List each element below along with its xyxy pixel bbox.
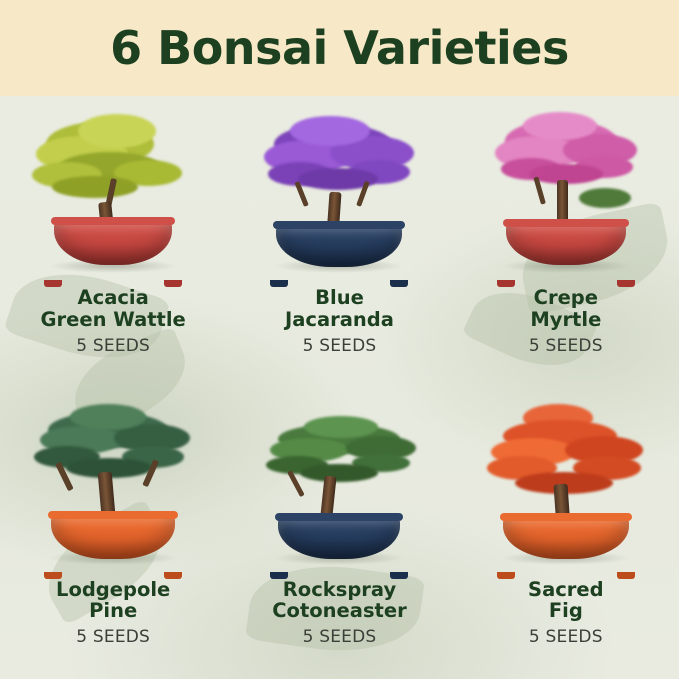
product-caption: Rockspray Cotoneaster 5 SEEDS <box>234 579 444 648</box>
product-caption: Sacred Fig 5 SEEDS <box>461 579 671 648</box>
page-title: 6 Bonsai Varieties <box>110 25 569 71</box>
product-name: Rockspray Cotoneaster <box>234 579 444 623</box>
product-caption: Blue Jacaranda 5 SEEDS <box>234 287 444 356</box>
product-grid: Acacia Green Wattle 5 SEEDS <box>0 96 679 679</box>
pot-acacia <box>54 221 172 265</box>
product-seed-count: 5 SEEDS <box>461 627 671 647</box>
product-caption: Acacia Green Wattle 5 SEEDS <box>8 287 218 356</box>
product-card-lodgepole-pine[interactable]: Lodgepole Pine 5 SEEDS <box>0 388 226 679</box>
product-seed-count: 5 SEEDS <box>8 336 218 356</box>
product-name: Sacred Fig <box>461 579 671 623</box>
bonsai-illustration-acacia <box>18 106 208 281</box>
product-card-sacred-fig[interactable]: Sacred Fig 5 SEEDS <box>453 388 679 679</box>
product-card-rockspray-cotoneaster[interactable]: Rockspray Cotoneaster 5 SEEDS <box>226 388 452 679</box>
product-caption: Crepe Myrtle 5 SEEDS <box>461 287 671 356</box>
product-image: 6 Bonsai Varieties <box>0 0 679 679</box>
product-name: Crepe Myrtle <box>461 287 671 331</box>
product-caption: Lodgepole Pine 5 SEEDS <box>8 579 218 648</box>
product-card-acacia-green-wattle[interactable]: Acacia Green Wattle 5 SEEDS <box>0 96 226 388</box>
product-name: Acacia Green Wattle <box>8 287 218 331</box>
bonsai-illustration-sacred-fig <box>471 398 661 573</box>
product-seed-count: 5 SEEDS <box>8 627 218 647</box>
product-card-blue-jacaranda[interactable]: Blue Jacaranda 5 SEEDS <box>226 96 452 388</box>
product-name: Lodgepole Pine <box>8 579 218 623</box>
product-seed-count: 5 SEEDS <box>234 627 444 647</box>
bonsai-illustration-rockspray-cotoneaster <box>244 398 434 573</box>
bonsai-illustration-lodgepole-pine <box>18 398 208 573</box>
bonsai-illustration-jacaranda <box>244 106 434 281</box>
product-card-crepe-myrtle[interactable]: Crepe Myrtle 5 SEEDS <box>453 96 679 388</box>
pot-crepe-myrtle <box>506 223 626 265</box>
product-seed-count: 5 SEEDS <box>234 336 444 356</box>
bonsai-illustration-crepe-myrtle <box>471 106 661 281</box>
header-banner: 6 Bonsai Varieties <box>0 0 679 96</box>
product-name: Blue Jacaranda <box>234 287 444 331</box>
product-seed-count: 5 SEEDS <box>461 336 671 356</box>
